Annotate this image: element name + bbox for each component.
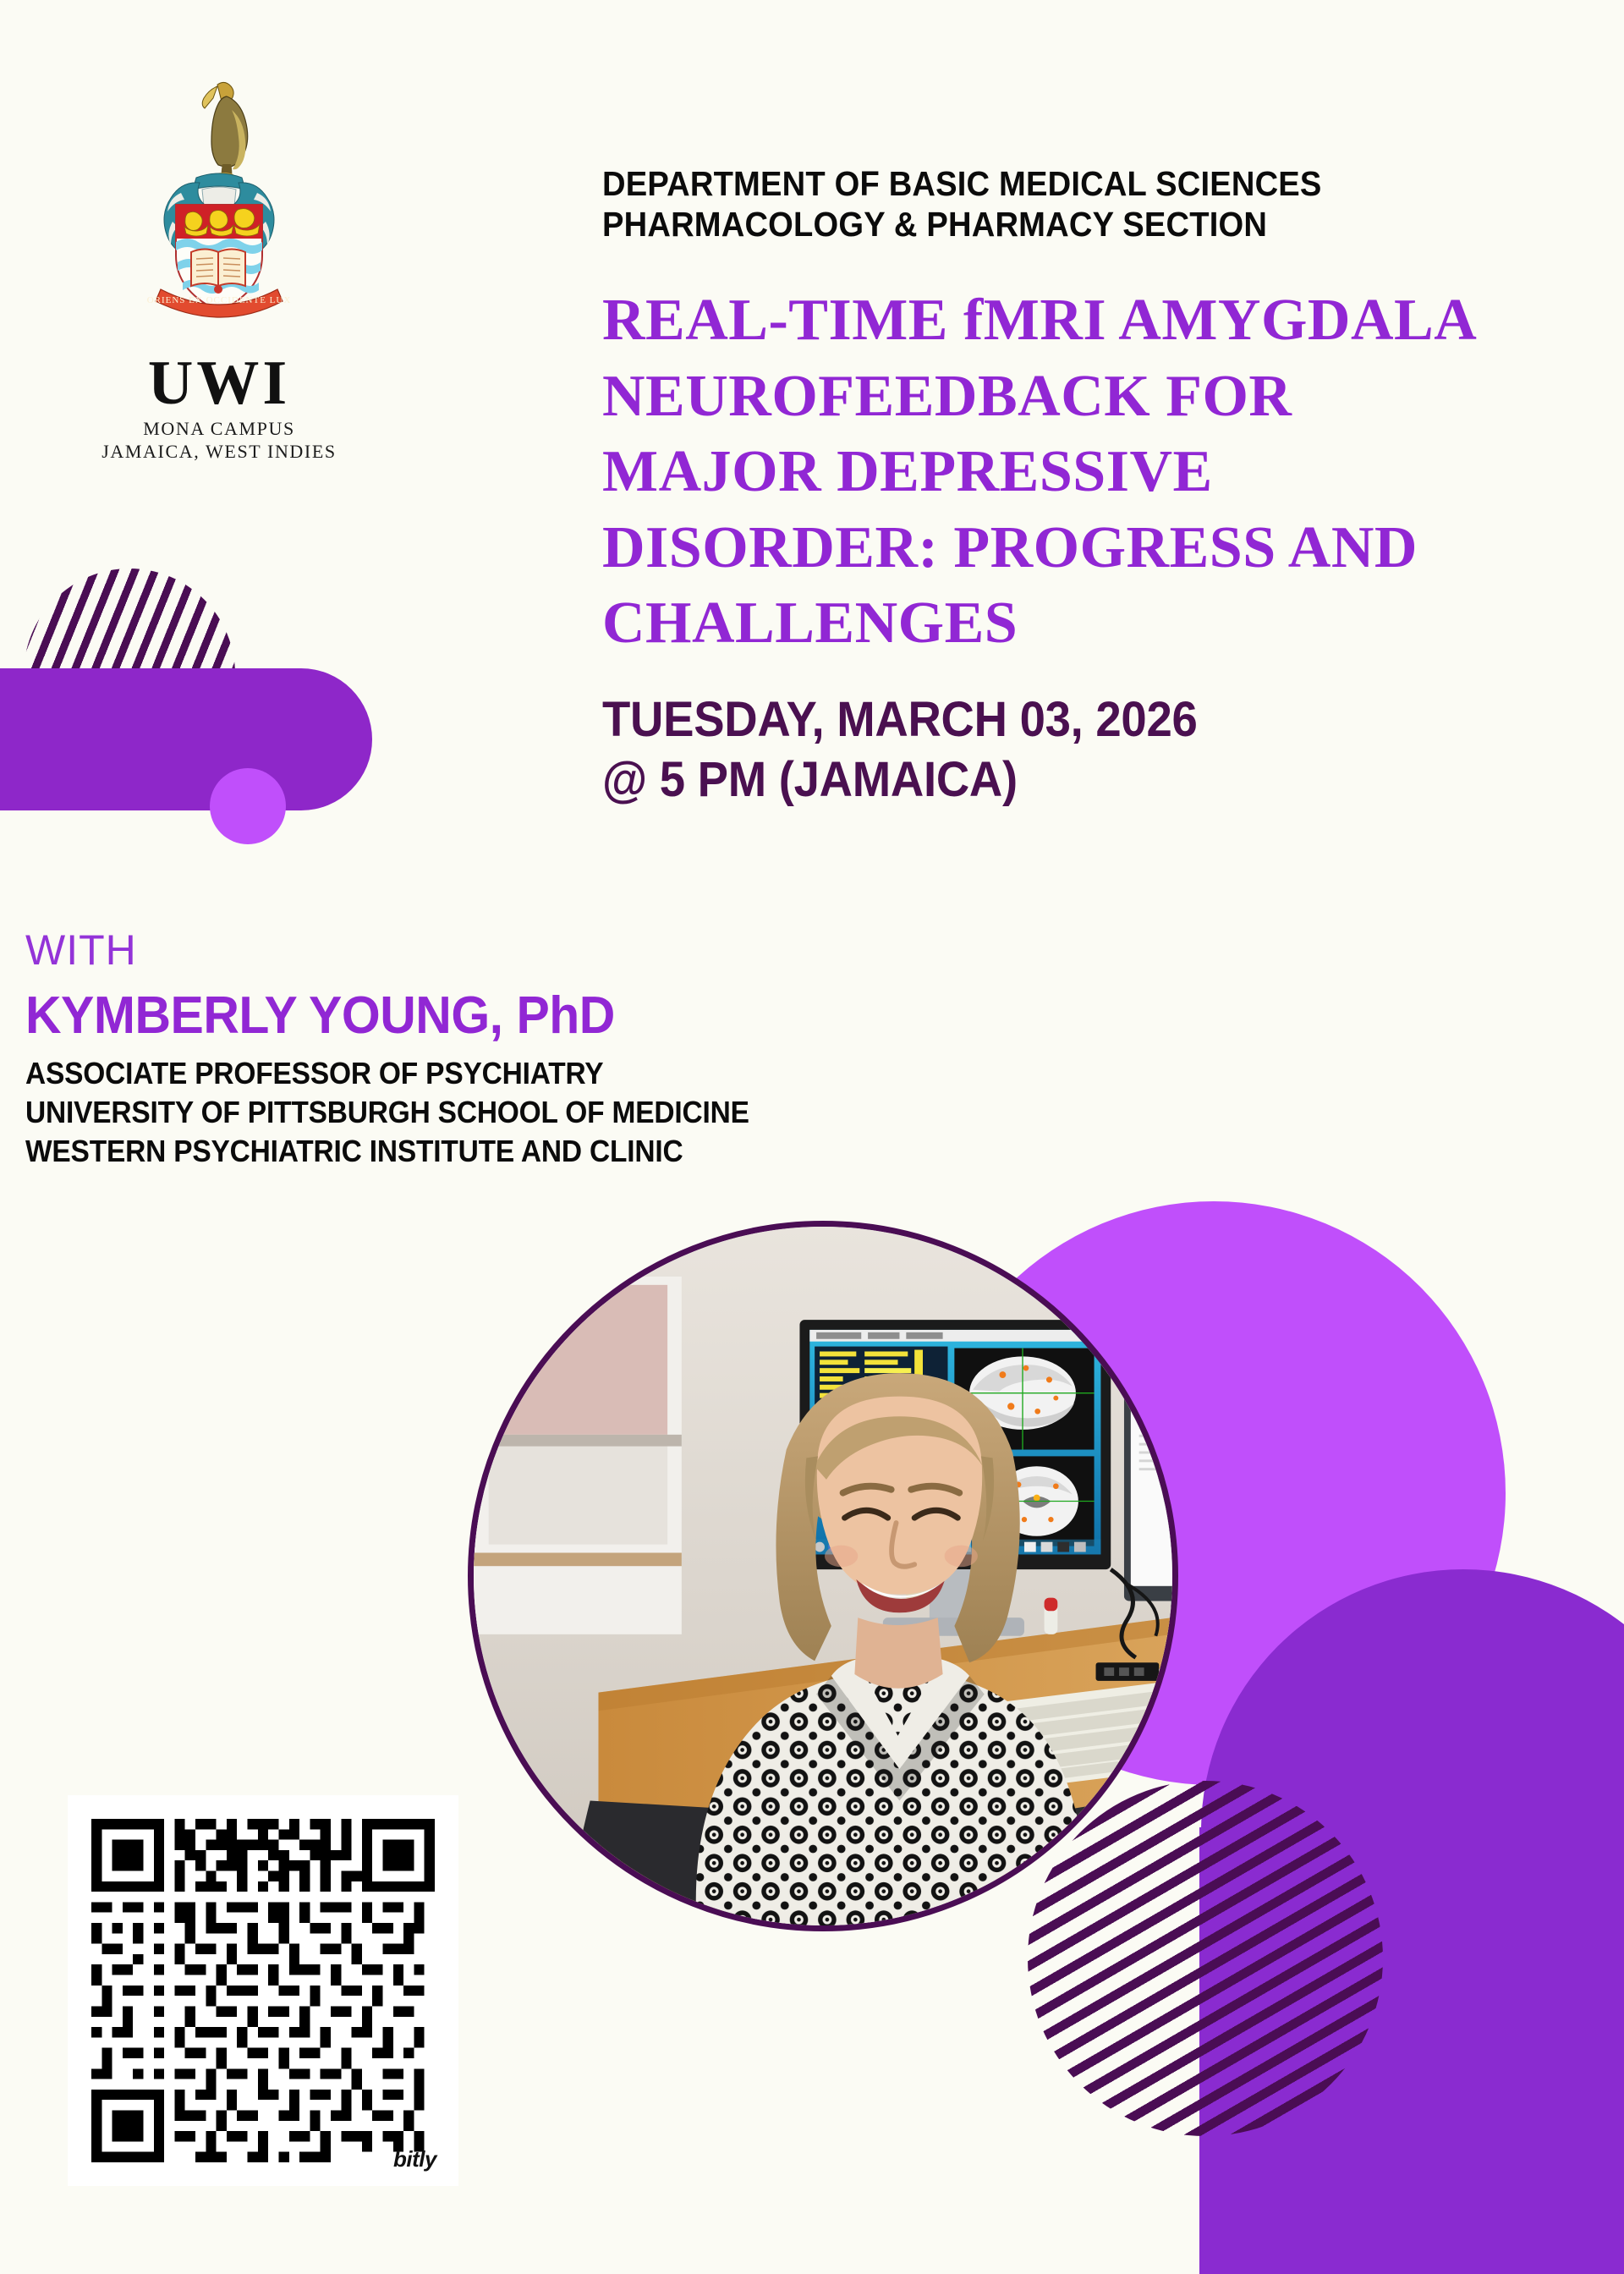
event-date: TUESDAY, MARCH 03, 2026 [602,690,1501,750]
title-column: DEPARTMENT OF BASIC MEDICAL SCIENCES PHA… [602,164,1558,810]
portrait-illustration [474,1227,1172,1925]
uwi-campus-line1: MONA CAMPUS [88,418,350,441]
event-datetime: TUESDAY, MARCH 03, 2026 @ 5 PM (JAMAICA) [602,690,1501,810]
title-line-5: CHALLENGES [602,585,1558,662]
large-dark-circle-shape [1201,1569,1624,2094]
title-line-3: MAJOR DEPRESSIVE [602,434,1558,510]
small-circle-shape [210,768,286,844]
striped-circle-bottom-right-icon [1028,1781,1383,2136]
affiliation-line-1: ASSOCIATE PROFESSOR OF PSYCHIATRY [25,1054,1048,1093]
uwi-coat-of-arms-icon: ORIENS EX OCCIDENTE LUX [122,73,316,352]
department-line-2: PHARMACOLOGY & PHARMACY SECTION [602,205,1491,245]
speaker-photo [468,1221,1178,1931]
title-line-4: DISORDER: PROGRESS AND [602,510,1558,586]
qr-brand-label: bitly [393,2146,436,2172]
affiliation-line-3: WESTERN PSYCHIATRIC INSTITUTE AND CLINIC [25,1132,1048,1171]
affiliation-line-2: UNIVERSITY OF PITTSBURGH SCHOOL OF MEDIC… [25,1093,1048,1132]
qr-code-card[interactable]: bitly [68,1795,458,2186]
speaker-block: WITH KYMBERLY YOUNG, PhD ASSOCIATE PROFE… [25,929,1125,1171]
qr-code-icon[interactable] [91,1819,435,2162]
department-line-1: DEPARTMENT OF BASIC MEDICAL SCIENCES [602,164,1491,205]
title-line-2: NEUROFEEDBACK FOR [602,359,1558,435]
with-label: WITH [25,929,1125,971]
corner-block-shape [1199,1827,1624,2274]
speaker-name: KYMBERLY YOUNG, PhD [25,990,1070,1042]
svg-text:ORIENS EX OCCIDENTE LUX: ORIENS EX OCCIDENTE LUX [147,295,292,305]
title-line-1: REAL-TIME fMRI AMYGDALA [602,283,1558,359]
uwi-wordmark: UWI [88,354,350,413]
striped-circle-left-icon [24,568,235,780]
seminar-poster: ORIENS EX OCCIDENTE LUX UWI MONA CAMPUS … [0,0,1624,2274]
uwi-logo: ORIENS EX OCCIDENTE LUX UWI MONA CAMPUS … [88,73,350,464]
page-title: REAL-TIME fMRI AMYGDALA NEUROFEEDBACK FO… [602,283,1558,662]
event-time: @ 5 PM (JAMAICA) [602,750,1501,810]
rounded-bar-shape [0,668,372,810]
uwi-campus-line2: JAMAICA, WEST INDIES [88,441,350,464]
speaker-affiliation: ASSOCIATE PROFESSOR OF PSYCHIATRY UNIVER… [25,1054,1048,1171]
